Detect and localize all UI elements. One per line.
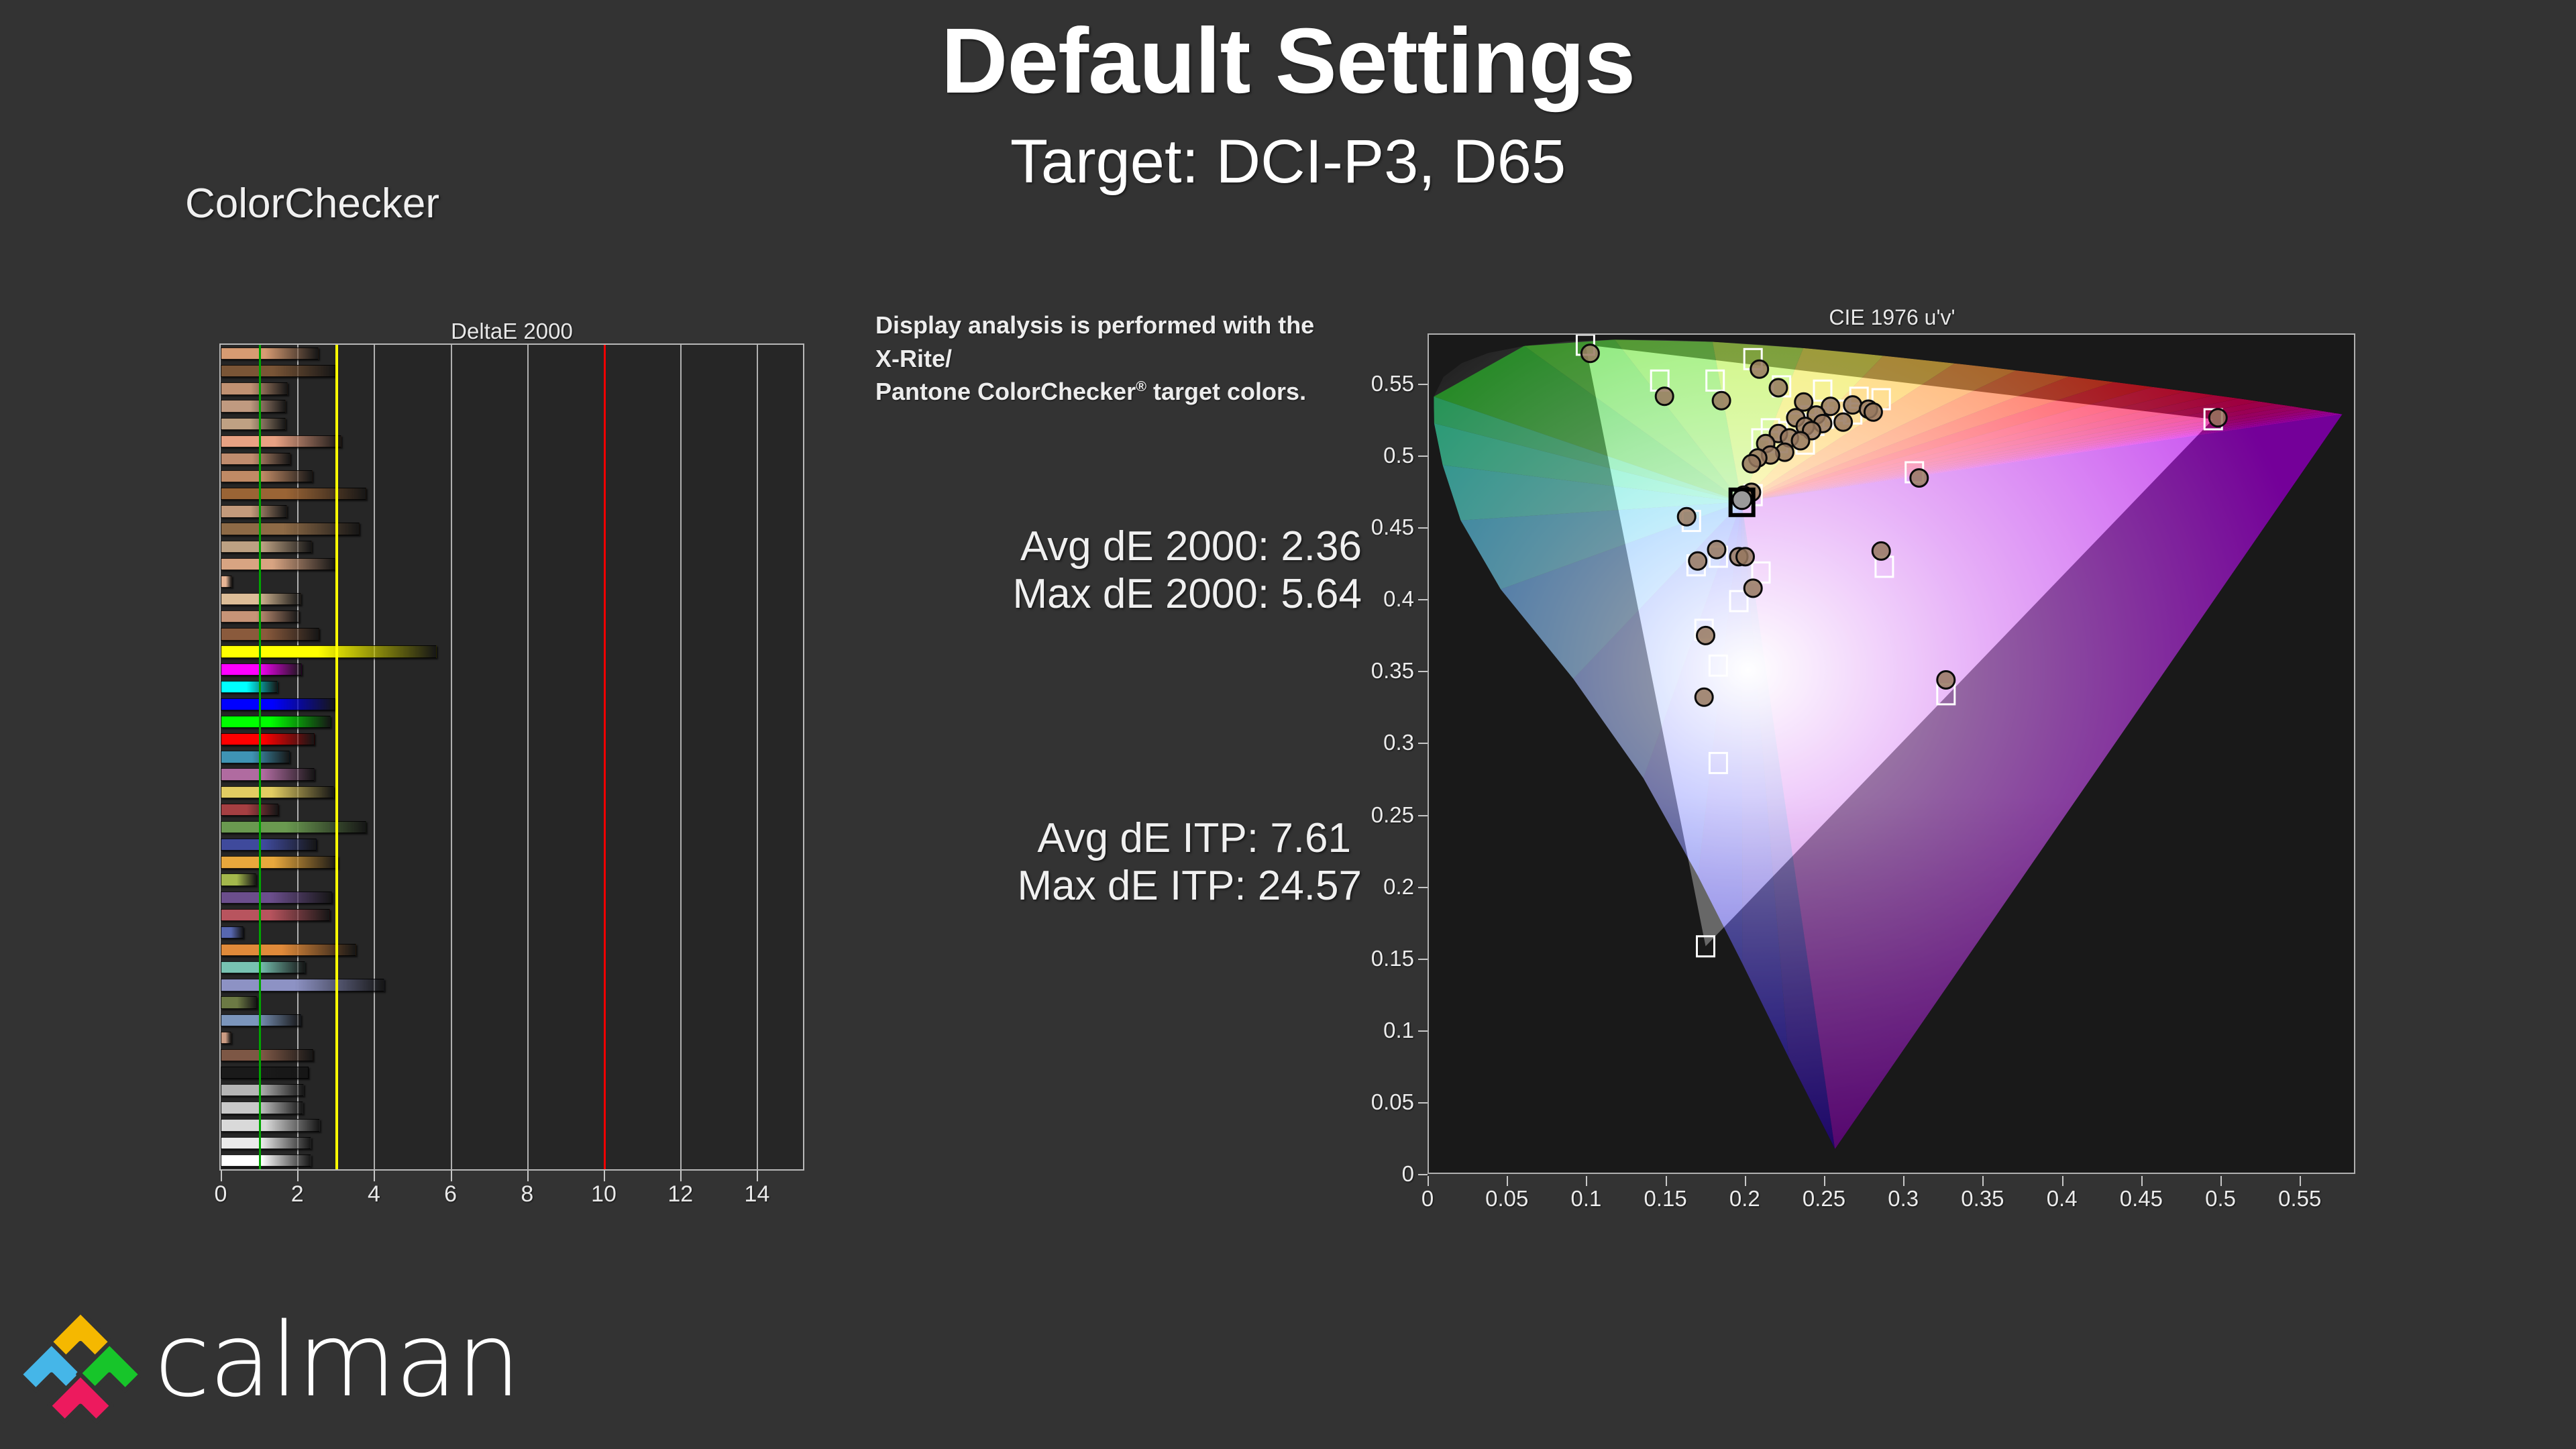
bar-fill xyxy=(221,804,278,816)
cie-x-axis-tick xyxy=(2062,1176,2063,1186)
cie-y-axis-tick xyxy=(1418,599,1428,600)
bar-row xyxy=(221,523,803,535)
bar-row xyxy=(221,505,803,517)
bar-axis-tick xyxy=(527,1171,529,1181)
deitp-stats-block: Avg dE ITP: 7.61 Max dE ITP: 24.57 xyxy=(865,815,1362,910)
cie-y-axis-tick xyxy=(1418,815,1428,816)
cie-y-axis-tick-label: 0.3 xyxy=(1383,730,1414,755)
bar-row xyxy=(221,1067,803,1079)
cie-measured-marker xyxy=(1911,470,1928,487)
yellow-threshold xyxy=(335,345,338,1169)
deltae-plot-area xyxy=(219,343,804,1171)
cie-measured-marker xyxy=(1743,455,1760,472)
bar-row xyxy=(221,488,803,500)
bar-row xyxy=(221,856,803,868)
bar-fill xyxy=(221,470,313,482)
bar-row xyxy=(221,961,803,973)
bar-row xyxy=(221,1032,803,1044)
bar-axis-tick xyxy=(221,1171,222,1181)
cie-y-axis-tick xyxy=(1418,455,1428,457)
cie-y-axis-tick xyxy=(1418,384,1428,385)
cie-measured-marker xyxy=(1744,580,1762,597)
cie-x-axis-tick xyxy=(1666,1176,1667,1186)
bar-row xyxy=(221,926,803,938)
bar-axis-tick-label: 0 xyxy=(215,1181,227,1207)
bar-row xyxy=(221,751,803,763)
bar-row xyxy=(221,628,803,640)
cie-x-axis-tick xyxy=(1428,1176,1429,1186)
bar-fill xyxy=(221,1067,309,1079)
bar-fill xyxy=(221,786,334,798)
cie-x-axis-tick xyxy=(2300,1176,2301,1186)
bar-row xyxy=(221,593,803,605)
cie-x-axis-tick xyxy=(1824,1176,1825,1186)
bar-row xyxy=(221,996,803,1008)
bar-fill xyxy=(221,453,290,465)
bar-row xyxy=(221,610,803,623)
bar-row xyxy=(221,418,803,430)
cie-y-axis-tick-label: 0.5 xyxy=(1383,443,1414,468)
cie-x-axis-tick-label: 0.1 xyxy=(1570,1186,1601,1212)
bar-fill xyxy=(221,1032,231,1044)
bar-fill xyxy=(221,382,288,394)
bar-fill xyxy=(221,926,244,938)
cie-measured-marker xyxy=(1713,392,1730,409)
bar-row xyxy=(221,1155,803,1167)
bar-axis-tick-label: 2 xyxy=(291,1181,304,1207)
bar-fill xyxy=(221,1137,311,1149)
cie-measured-marker xyxy=(1770,379,1787,396)
cie-y-axis-tick-label: 0.55 xyxy=(1371,371,1414,396)
bar-row xyxy=(221,821,803,833)
cie-measured-marker xyxy=(1689,552,1707,570)
bar-row xyxy=(221,944,803,956)
bar-fill xyxy=(221,892,332,904)
bar-fill xyxy=(221,821,366,833)
bar-row xyxy=(221,645,803,657)
green-threshold xyxy=(259,345,261,1169)
bar-row xyxy=(221,663,803,676)
cie-x-axis-tick-label: 0.4 xyxy=(2047,1186,2078,1212)
cie-y-axis-tick-label: 0.4 xyxy=(1383,586,1414,612)
bar-axis-tick-label: 14 xyxy=(745,1181,770,1207)
analysis-note-line2a: Pantone ColorChecker xyxy=(875,378,1136,405)
bar-fill xyxy=(221,961,305,973)
bar-row xyxy=(221,470,803,482)
cie-measured-marker xyxy=(1708,541,1725,558)
cie-x-axis-tick-label: 0.35 xyxy=(1961,1186,2004,1212)
bar-fill xyxy=(221,909,330,921)
cie-x-axis-tick-label: 0.3 xyxy=(1888,1186,1919,1212)
calman-logo: calman xyxy=(20,1301,637,1429)
bar-row xyxy=(221,1102,803,1114)
bar-row xyxy=(221,979,803,991)
bar-fill xyxy=(221,523,360,535)
bar-axis-tick-label: 10 xyxy=(591,1181,616,1207)
bar-row xyxy=(221,786,803,798)
bar-fill xyxy=(221,400,286,412)
cie-x-axis-tick-label: 0.15 xyxy=(1644,1186,1686,1212)
bar-fill xyxy=(221,698,335,710)
bar-axis-tick xyxy=(680,1171,682,1181)
cie-y-axis-tick xyxy=(1418,959,1428,960)
avg-de2000-value: Avg dE 2000: 2.36 xyxy=(865,523,1362,571)
deltae-chart-title: DeltaE 2000 xyxy=(219,319,804,344)
bar-fill xyxy=(221,1049,313,1061)
bar-fill xyxy=(221,1155,311,1167)
cie-y-axis-tick-label: 0.2 xyxy=(1383,874,1414,900)
deltae-x-axis: 02468101214 xyxy=(219,1171,804,1218)
cie-y-axis-tick-label: 0.05 xyxy=(1371,1089,1414,1115)
max-deitp-value: Max dE ITP: 24.57 xyxy=(865,863,1362,910)
calman-wordmark: calman xyxy=(154,1309,520,1411)
cie-x-axis-tick-label: 0.2 xyxy=(1729,1186,1760,1212)
cie-x-axis-tick xyxy=(1745,1176,1746,1186)
cie-measured-marker xyxy=(1656,388,1673,405)
cie-y-axis-tick-label: 0.45 xyxy=(1371,515,1414,540)
analysis-note-line1: Display analysis is performed with the X… xyxy=(875,311,1314,372)
cie-measured-marker xyxy=(1695,688,1713,706)
bar-row xyxy=(221,716,803,728)
bar-fill xyxy=(221,628,319,640)
bar-axis-tick xyxy=(604,1171,605,1181)
bar-fill xyxy=(221,768,315,780)
de2000-stats-block: Avg dE 2000: 2.36 Max dE 2000: 5.64 xyxy=(865,523,1362,618)
bar-fill xyxy=(221,505,287,517)
bar-fill xyxy=(221,873,256,885)
bar-row xyxy=(221,839,803,851)
bar-fill xyxy=(221,996,257,1008)
cie-measured-marker xyxy=(1792,432,1809,449)
cie-measured-marker xyxy=(2209,409,2226,427)
avg-deitp-value: Avg dE ITP: 7.61 xyxy=(865,815,1362,863)
bar-row xyxy=(221,1049,803,1061)
max-de2000-value: Max dE 2000: 5.64 xyxy=(865,571,1362,619)
cie-y-axis-tick xyxy=(1418,527,1428,529)
bar-row xyxy=(221,768,803,780)
bar-axis-tick xyxy=(757,1171,758,1181)
cie-x-axis-tick-label: 0 xyxy=(1421,1186,1434,1212)
cie-measured-marker xyxy=(1937,672,1955,689)
cie-measured-marker xyxy=(1864,403,1882,421)
cie-x-axis-tick-label: 0.45 xyxy=(2120,1186,2163,1212)
cie-x-axis-tick-label: 0.25 xyxy=(1803,1186,1845,1212)
cie-whitepoint-measured-marker xyxy=(1733,490,1752,509)
bar-row xyxy=(221,909,803,921)
bar-row xyxy=(221,382,803,394)
cie-x-axis: 00.050.10.150.20.250.30.350.40.450.50.55 xyxy=(1428,1176,2357,1223)
cie-measured-marker xyxy=(1872,542,1890,559)
bar-row xyxy=(221,1119,803,1131)
bar-row xyxy=(221,558,803,570)
cie-measured-marker xyxy=(1737,548,1754,566)
cie-x-axis-tick xyxy=(1507,1176,1508,1186)
bar-row xyxy=(221,1084,803,1096)
bar-axis-tick-label: 8 xyxy=(521,1181,533,1207)
red-threshold xyxy=(604,345,606,1169)
bar-row xyxy=(221,541,803,553)
bar-fill xyxy=(221,1102,303,1114)
cie-y-axis-tick xyxy=(1418,671,1428,672)
cie-measured-marker xyxy=(1581,345,1599,362)
cie-measured-marker xyxy=(1751,360,1768,378)
bar-fill xyxy=(221,365,335,377)
bar-fill xyxy=(221,681,278,693)
page-title: Default Settings xyxy=(0,15,2576,107)
cie-y-axis-tick xyxy=(1418,743,1428,744)
bar-row xyxy=(221,733,803,745)
bar-fill xyxy=(221,1084,304,1096)
bar-axis-tick xyxy=(374,1171,375,1181)
bar-row xyxy=(221,1014,803,1026)
bar-fill xyxy=(221,751,290,763)
cie-y-axis-tick xyxy=(1418,887,1428,888)
calman-logo-mark xyxy=(20,1307,141,1428)
registered-mark: ® xyxy=(1136,378,1146,394)
bar-fill xyxy=(221,541,312,553)
bar-fill xyxy=(221,1119,320,1131)
bar-row xyxy=(221,365,803,377)
bar-row xyxy=(221,347,803,360)
bar-axis-tick xyxy=(451,1171,452,1181)
cie-y-axis-tick xyxy=(1418,1174,1428,1175)
cie-measured-marker xyxy=(1697,627,1715,644)
bar-axis-tick xyxy=(297,1171,299,1181)
cie-x-axis-tick xyxy=(1586,1176,1587,1186)
bar-row xyxy=(221,400,803,412)
bar-fill xyxy=(221,716,331,728)
bar-row xyxy=(221,435,803,447)
bar-fill xyxy=(221,418,286,430)
bar-row xyxy=(221,1137,803,1149)
cie-y-axis-tick-label: 0.15 xyxy=(1371,946,1414,971)
bar-row xyxy=(221,804,803,816)
cie-y-axis-tick-label: 0 xyxy=(1402,1161,1414,1187)
cie-plot-area xyxy=(1428,333,2355,1174)
cie-y-axis-tick xyxy=(1418,1102,1428,1104)
bar-row xyxy=(221,576,803,588)
bar-fill xyxy=(221,347,319,360)
cie-chromaticity-diagram xyxy=(1429,335,2354,1173)
bar-row xyxy=(221,681,803,693)
cie-x-axis-tick xyxy=(1903,1176,1904,1186)
cie-x-axis-tick-label: 0.55 xyxy=(2278,1186,2321,1212)
bar-fill xyxy=(221,576,232,588)
cie-measured-marker xyxy=(1678,508,1695,525)
bar-row xyxy=(221,873,803,885)
cie-x-axis-tick xyxy=(1982,1176,1984,1186)
cie-chart-title: CIE 1976 u'v' xyxy=(1428,305,2357,330)
bar-fill xyxy=(221,733,315,745)
bar-row xyxy=(221,453,803,465)
cie-x-axis-tick-label: 0.05 xyxy=(1485,1186,1528,1212)
bar-fill xyxy=(221,979,384,991)
bar-axis-tick-label: 6 xyxy=(444,1181,457,1207)
cie-x-axis-tick xyxy=(2141,1176,2143,1186)
bar-fill xyxy=(221,488,366,500)
cie-x-axis-tick-label: 0.5 xyxy=(2205,1186,2236,1212)
cie-measured-marker xyxy=(1835,413,1852,431)
cie-measured-marker xyxy=(1844,396,1862,414)
deltae-bar-chart-panel: DeltaE 2000 02468101214 xyxy=(0,309,845,1207)
bar-row xyxy=(221,698,803,710)
bar-fill xyxy=(221,435,341,447)
cie-x-axis-tick xyxy=(2220,1176,2222,1186)
bar-axis-tick-label: 12 xyxy=(667,1181,693,1207)
analysis-note-line2b: target colors. xyxy=(1146,378,1306,405)
bar-fill xyxy=(221,856,338,868)
bar-fill xyxy=(221,839,317,851)
bar-row xyxy=(221,892,803,904)
bar-axis-tick-label: 4 xyxy=(368,1181,380,1207)
cie-y-axis: 00.050.10.150.20.250.30.350.40.450.50.55 xyxy=(1368,333,1428,1176)
analysis-note: Display analysis is performed with the X… xyxy=(875,309,1345,409)
cie-y-axis-tick xyxy=(1418,1030,1428,1032)
bar-fill xyxy=(221,663,302,676)
cie-y-axis-tick-label: 0.35 xyxy=(1371,658,1414,684)
bar-fill xyxy=(221,558,335,570)
colorchecker-section-label: ColorChecker xyxy=(185,180,439,227)
bar-fill xyxy=(221,645,437,657)
cie-y-axis-tick-label: 0.25 xyxy=(1371,802,1414,828)
cie-y-axis-tick-label: 0.1 xyxy=(1383,1018,1414,1043)
